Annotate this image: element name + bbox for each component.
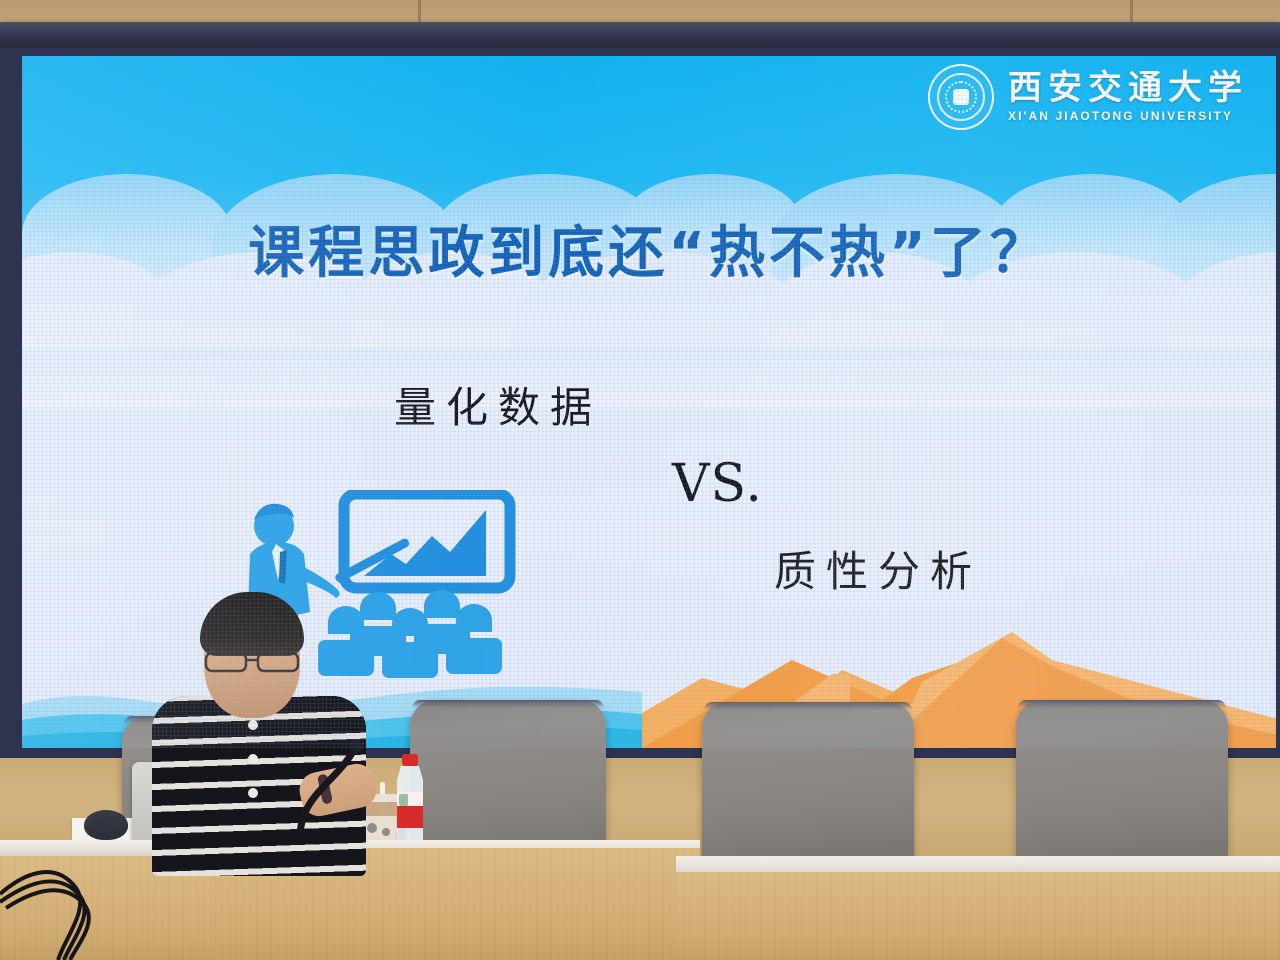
vs-label: VS. xyxy=(672,454,763,514)
speaker-hair xyxy=(200,592,304,656)
eyeglasses-icon xyxy=(202,648,304,674)
chair-left xyxy=(410,700,606,862)
logo-english-name: XI'AN JIAOTONG UNIVERSITY xyxy=(1008,109,1248,123)
university-crest-icon xyxy=(928,64,994,130)
screenshot-root: 西安交通大学 XI'AN JIAOTONG UNIVERSITY 课程思政到底还… xyxy=(0,0,1280,960)
logo-chinese-name: 西安交通大学 xyxy=(1008,71,1248,107)
university-logo: 西安交通大学 XI'AN JIAOTONG UNIVERSITY xyxy=(928,64,1248,130)
microphone xyxy=(282,726,402,846)
quantitative-label: 量化数据 xyxy=(394,374,602,435)
cables xyxy=(0,844,240,960)
chair-center xyxy=(702,702,914,864)
slide-title: 课程思政到底还“热不热”了？ xyxy=(22,208,1276,289)
qualitative-label: 质性分析 xyxy=(774,538,982,599)
desk-front-right xyxy=(676,872,1280,960)
chart-board-icon xyxy=(334,494,510,588)
chair-right xyxy=(1016,700,1228,864)
